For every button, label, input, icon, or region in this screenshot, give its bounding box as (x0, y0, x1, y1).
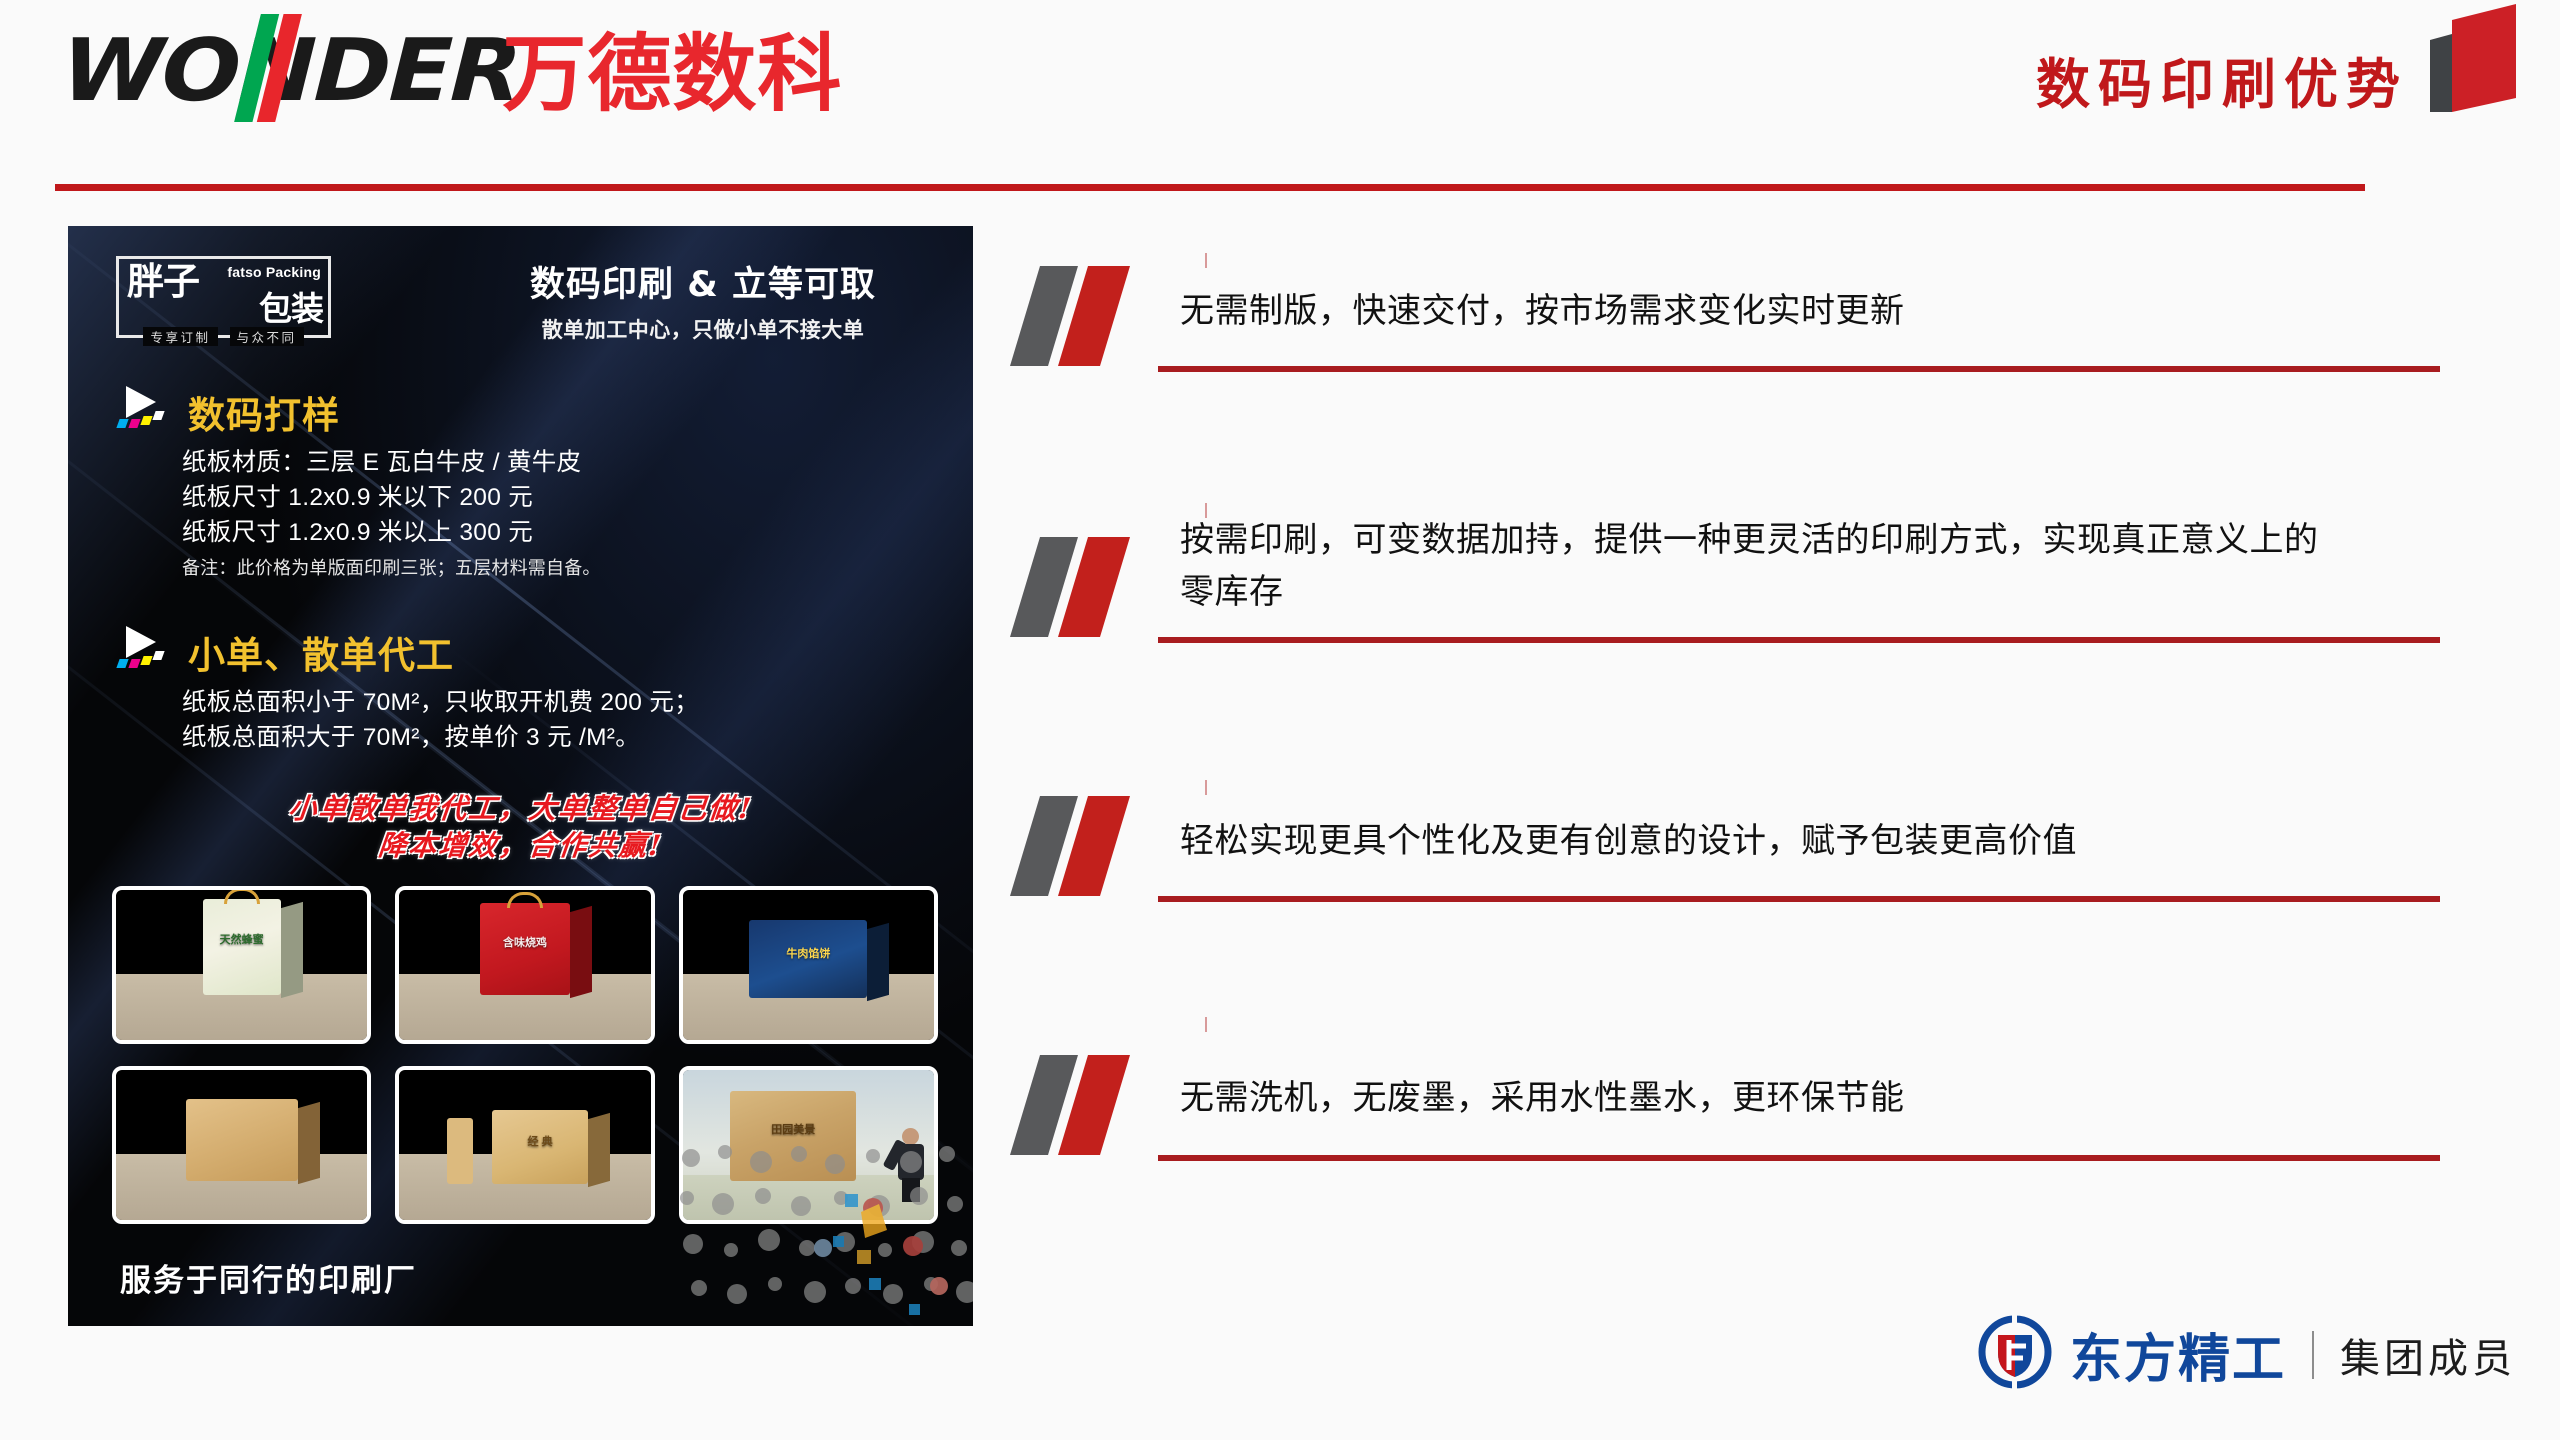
double-slash-marker-icon (1010, 531, 1170, 649)
product-label: 牛肉馅饼 (786, 945, 830, 961)
promo-poster-image: 胖子 fatso Packing 包装 专享订制 与众不同 数码印刷 & 立等可… (68, 226, 973, 1326)
advantage-text: 轻松实现更具个性化及更有创意的设计，赋予包装更高价值 (1180, 790, 2350, 868)
tick-mark-icon (1205, 1017, 1207, 1032)
section-title-row: 数码打样 (116, 386, 946, 434)
poster-section-small-order: 小单、散单代工 纸板总面积小于 70M²，只收取开机费 200 元； 纸板总面积… (116, 626, 946, 756)
poster-headline-block: 数码印刷 & 立等可取 散单加工中心，只做小单不接大单 (468, 256, 938, 344)
slide-root: WONDER 万德数科 数码印刷优势 胖子 fatso Packing 包装 专… (0, 0, 2560, 1440)
section-line: 纸板尺寸 1.2x0.9 米以上 300 元 (182, 516, 946, 551)
dot-pattern-decoration (673, 1136, 973, 1326)
advantage-underline (1158, 1155, 2440, 1161)
section-note: 备注：此价格为单版面印刷三张；五层材料需自备。 (182, 554, 946, 580)
product-label: 田园美景 (771, 1121, 815, 1137)
section-title: 数码打样 (188, 397, 340, 434)
tick-mark-icon (1205, 780, 1207, 795)
page-title: 数码印刷优势 (2036, 40, 2408, 119)
footer-divider (2312, 1331, 2314, 1379)
poster-section-digital-proofing: 数码打样 纸板材质：三层 E 瓦白牛皮 / 黄牛皮 纸板尺寸 1.2x0.9 米… (116, 386, 946, 580)
advantage-item-on-demand[interactable]: 按需印刷，可变数据加持，提供一种更灵活的印刷方式，实现真正意义上的零库存 (1010, 505, 2440, 790)
chevron-cmyk-icon (116, 386, 178, 434)
poster-headline: 数码印刷 & 立等可取 (468, 256, 938, 307)
slogan-line: 小单散单我代工，大单整单自己做! (68, 791, 973, 828)
section-title: 小单、散单代工 (188, 637, 454, 674)
company-name: 东方精工 (2070, 1317, 2286, 1392)
group-member-label: 集团成员 (2340, 1326, 2516, 1384)
advantage-text: 按需印刷，可变数据加持，提供一种更灵活的印刷方式，实现真正意义上的零库存 (1180, 505, 2350, 618)
advantage-text: 无需制版，快速交付，按市场需求变化实时更新 (1180, 260, 2350, 338)
section-line: 纸板总面积小于 70M²，只收取开机费 200 元； (182, 686, 946, 721)
tagline-left: 专享订制 (143, 327, 217, 346)
chevron-cmyk-icon (116, 626, 178, 674)
section-line: 纸板尺寸 1.2x0.9 米以下 200 元 (182, 481, 946, 516)
dongfang-shield-icon (1976, 1313, 2054, 1396)
tick-mark-icon (1205, 503, 1207, 518)
tick-mark-icon (1205, 253, 1207, 268)
fatso-logo-main: 胖子 (127, 263, 199, 302)
product-photo: 天然蜂蜜 (112, 886, 371, 1044)
poster-footer-text: 服务于同行的印刷厂 (120, 1255, 417, 1300)
product-label: 经 典 (528, 1133, 553, 1149)
product-label: 含味烧鸡 (503, 934, 547, 950)
product-photo (112, 1066, 371, 1224)
product-photo: 含味烧鸡 (395, 886, 654, 1044)
fatso-logo-english: fatso Packing (227, 264, 321, 280)
section-line: 纸板材质：三层 E 瓦白牛皮 / 黄牛皮 (182, 446, 946, 481)
poster-slogan: 小单散单我代工，大单整单自己做! 降本增效，合作共赢! (68, 791, 973, 865)
tagline-right: 与众不同 (230, 327, 304, 346)
fatso-packing-logo: 胖子 fatso Packing 包装 专享订制 与众不同 (116, 256, 331, 338)
brand-chinese-name: 万德数科 (502, 32, 842, 116)
advantage-item-eco[interactable]: 无需洗机，无废墨，采用水性墨水，更环保节能 (1010, 1033, 2440, 1233)
product-label: 天然蜂蜜 (220, 931, 264, 947)
advantage-item-personalized[interactable]: 轻松实现更具个性化及更有创意的设计，赋予包装更高价值 (1010, 790, 2440, 1033)
poster-subheadline: 散单加工中心，只做小单不接大单 (468, 314, 938, 344)
wonder-wordmark: WONDER (60, 28, 522, 114)
group-member-logo: 东方精工 集团成员 (1976, 1313, 2516, 1396)
advantage-underline (1158, 366, 2440, 372)
product-photo: 牛肉馅饼 (679, 886, 938, 1044)
double-slash-marker-icon (1010, 790, 1170, 908)
section-body: 纸板材质：三层 E 瓦白牛皮 / 黄牛皮 纸板尺寸 1.2x0.9 米以下 20… (182, 446, 946, 580)
brand-logo: WONDER 万德数科 (60, 28, 842, 114)
section-line: 纸板总面积大于 70M²，按单价 3 元 /M²。 (182, 721, 946, 756)
advantage-text: 无需洗机，无废墨，采用水性墨水，更环保节能 (1180, 1033, 2350, 1125)
fatso-logo-sub: 包装 (259, 282, 323, 330)
double-slash-marker-icon (1010, 260, 1170, 378)
double-slash-marker-icon (1010, 1049, 1170, 1167)
slogan-line: 降本增效，合作共赢! (68, 828, 973, 865)
advantages-list: 无需制版，快速交付，按市场需求变化实时更新 按需印刷，可变数据加持，提供一种更灵… (1010, 260, 2440, 1233)
fatso-logo-taglines: 专享订制 与众不同 (119, 327, 328, 346)
corner-decoration-icon (2412, 4, 2528, 112)
header-divider (55, 184, 2365, 191)
section-title-row: 小单、散单代工 (116, 626, 946, 674)
advantage-underline (1158, 896, 2440, 902)
section-body: 纸板总面积小于 70M²，只收取开机费 200 元； 纸板总面积大于 70M²，… (182, 686, 946, 756)
advantage-underline (1158, 637, 2440, 643)
product-photo: 经 典 (395, 1066, 654, 1224)
advantage-item-no-plate[interactable]: 无需制版，快速交付，按市场需求变化实时更新 (1010, 260, 2440, 505)
